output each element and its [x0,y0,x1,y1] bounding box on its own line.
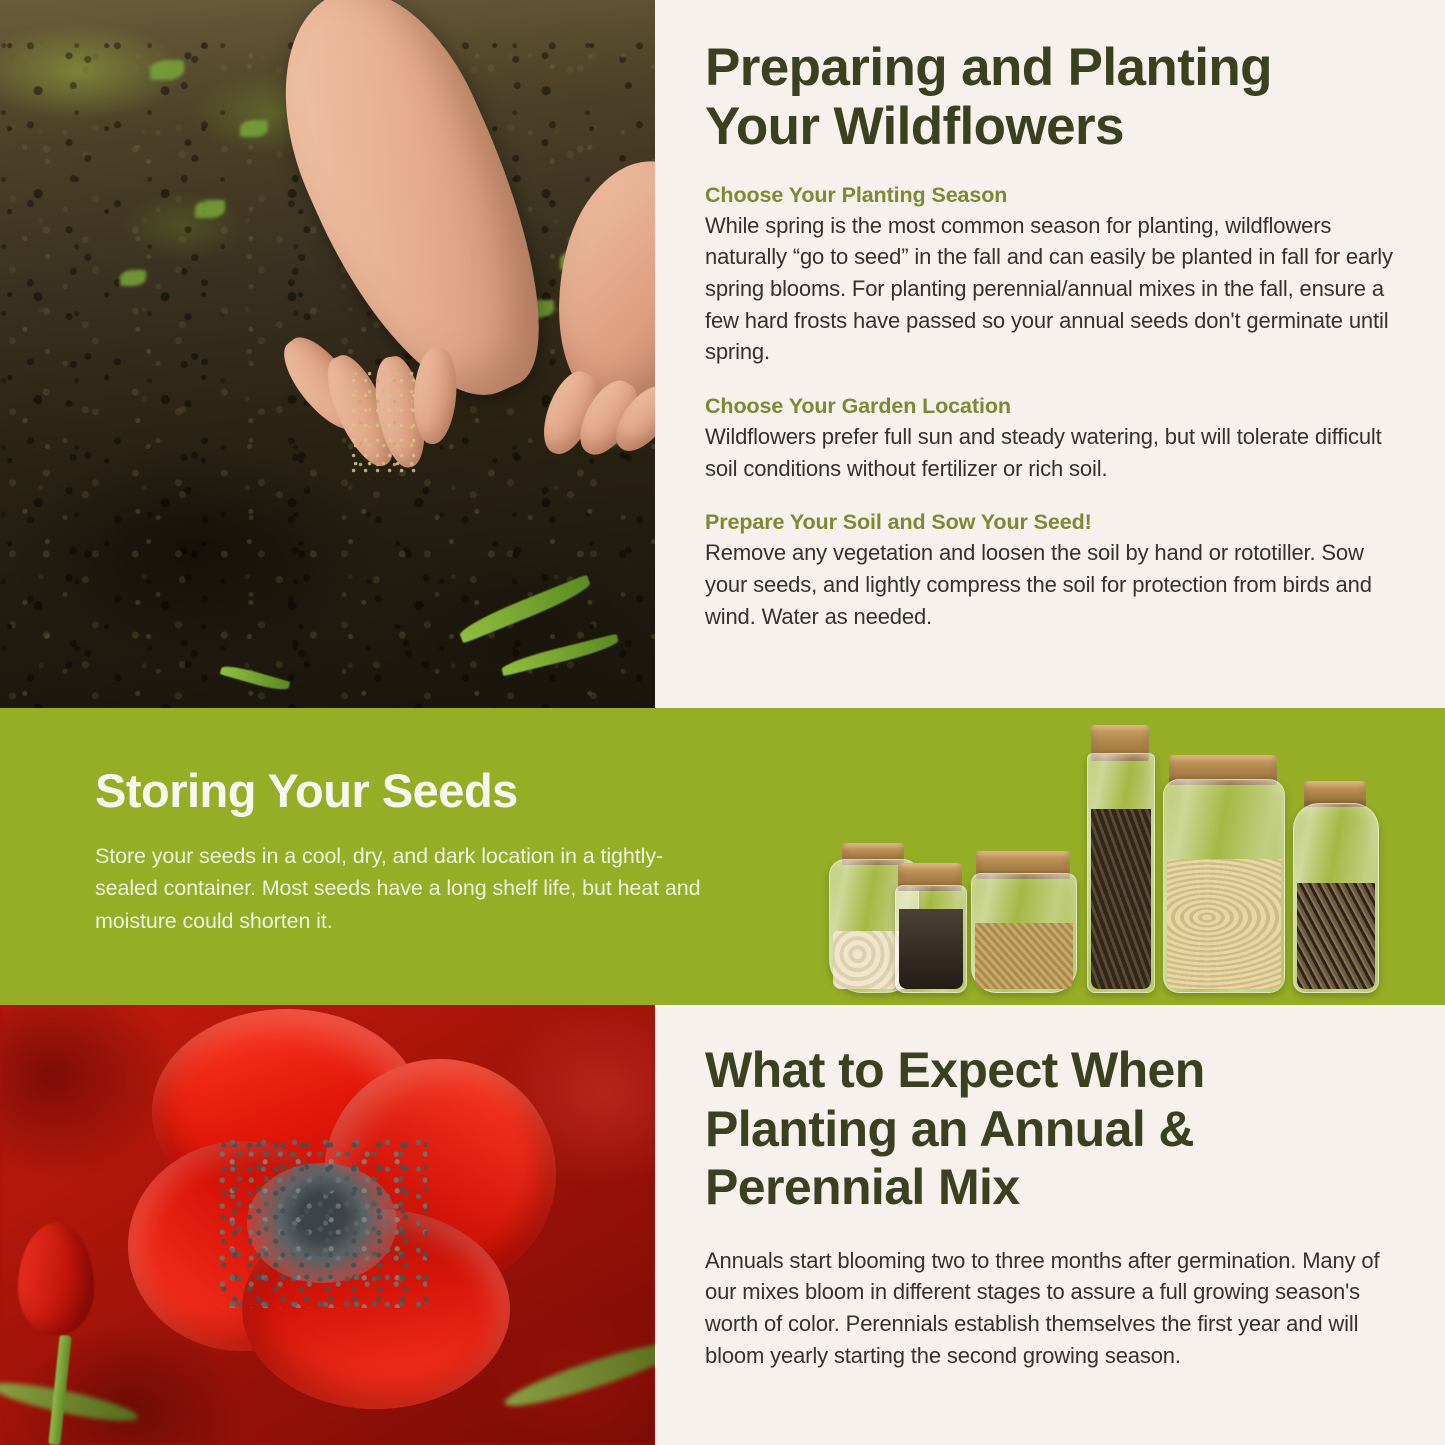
body-garden-location: Wildflowers prefer full sun and steady w… [705,421,1395,484]
section-preparing-and-planting: Preparing and Planting Your Wildflowers … [0,0,1445,708]
glass-body [1087,753,1155,993]
section-storing-your-seeds: Storing Your Seeds Store your seeds in a… [0,708,1445,1005]
seed-fill-striped [1297,883,1375,989]
glass-body [971,873,1077,993]
poppy-flower [92,1023,552,1423]
bottom-body-text: Annuals start blooming two to three mont… [705,1245,1395,1372]
block-garden-location: Choose Your Garden Location Wildflowers … [705,394,1395,484]
band-title: Storing Your Seeds [95,763,518,818]
sprout-icon [120,270,146,286]
glass-body [1163,779,1285,993]
subheading-planting-season: Choose Your Planting Season [705,183,1395,208]
jar-tall-dark-seeds [1087,725,1153,993]
jar-tan-seeds [971,851,1075,993]
falling-seeds [350,370,420,480]
sprout-icon [240,120,268,137]
jar-pumpkin-seeds [1163,755,1283,993]
glass-body [895,885,967,993]
seed-fill-black [899,909,963,989]
photo-red-poppy [0,1005,655,1445]
body-prepare-soil: Remove any vegetation and loosen the soi… [705,537,1395,632]
band-body-text: Store your seeds in a cool, dry, and dar… [95,840,705,937]
seed-fill-tan [975,923,1073,989]
section-what-to-expect: What to Expect When Planting an Annual &… [0,1005,1445,1445]
body-planting-season: While spring is the most common season f… [705,210,1395,368]
jar-black-seeds [895,863,965,993]
top-text-column: Preparing and Planting Your Wildflowers … [705,0,1395,632]
jar-sunflower-seeds [1293,781,1377,993]
seed-fill-pumpkin [1167,859,1281,989]
photo-seed-storage-jars [825,718,1425,1005]
subheading-prepare-soil: Prepare Your Soil and Sow Your Seed! [705,510,1395,535]
bottom-title: What to Expect When Planting an Annual &… [705,1041,1395,1217]
block-planting-season: Choose Your Planting Season While spring… [705,183,1395,368]
glass-body [1293,803,1379,993]
infographic-page: Preparing and Planting Your Wildflowers … [0,0,1445,1445]
bottom-text-column: What to Expect When Planting an Annual &… [705,1005,1395,1371]
page-title: Preparing and Planting Your Wildflowers [705,38,1395,157]
poppy-stamen-filaments [217,1138,427,1308]
subheading-garden-location: Choose Your Garden Location [705,394,1395,419]
photo-hands-sowing-seeds [0,0,655,708]
block-prepare-soil: Prepare Your Soil and Sow Your Seed! Rem… [705,510,1395,632]
seed-fill-dark [1091,809,1151,989]
sprout-icon [195,200,225,218]
sprout-icon [150,60,184,80]
